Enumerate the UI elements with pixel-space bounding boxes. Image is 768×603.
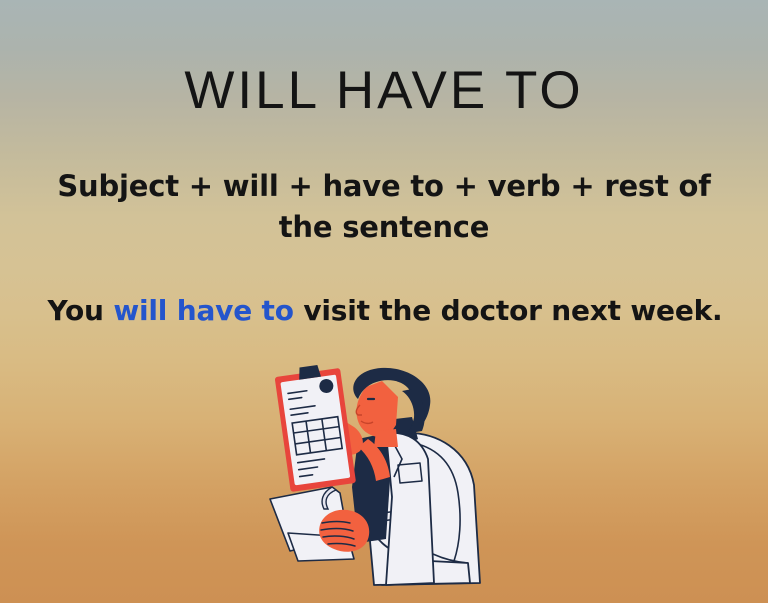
formula-line-1: Subject + will + have to + verb + rest o… [54, 166, 714, 207]
example-text-before: You [47, 294, 113, 327]
formula-line-2: the sentence [54, 207, 714, 248]
example-highlight: will have to [113, 294, 293, 327]
doctor-illustration [262, 347, 518, 603]
example-text-after: visit the doctor next week. [294, 294, 723, 327]
example-sentence: You will have to visit the doctor next w… [18, 294, 752, 327]
page-title: WILL HAVE TO [0, 62, 768, 120]
coat-front-icon [386, 433, 434, 585]
grammar-formula: Subject + will + have to + verb + rest o… [54, 166, 714, 248]
clipboard-icon [274, 362, 356, 492]
slide-canvas: WILL HAVE TO Subject + will + have to + … [0, 0, 768, 603]
